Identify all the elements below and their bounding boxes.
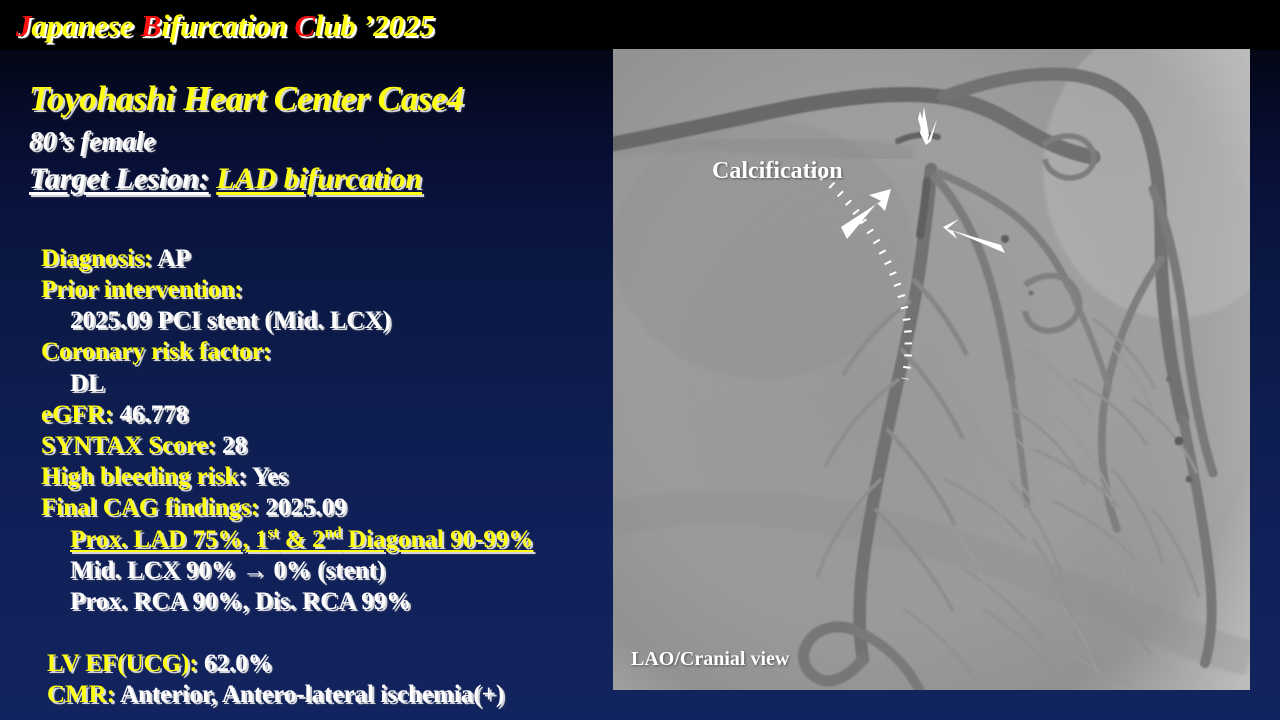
target-lesion-label: Target Lesion: (29, 162, 209, 195)
target-lesion-line: Target Lesion: LAD bifurcation (29, 162, 422, 196)
detail-label: Diagnosis: (41, 245, 152, 272)
detail-label: Final CAG findings: (41, 494, 259, 521)
cag-finding-lcx: Mid. LCX 90% → 0% (stent) (70, 557, 385, 585)
club-title-part-3: ifurcation (161, 8, 294, 43)
slide-canvas: Japanese Bifurcation Club ’2025 Toyohash… (0, 0, 1280, 720)
detail-row: High bleeding risk: Yes (41, 463, 288, 491)
club-title-part-0: J (16, 8, 31, 43)
detail-row: 2025.09 PCI stent (Mid. LCX) (70, 307, 391, 335)
detail-row: DL (70, 370, 105, 398)
club-title-part-2: B (141, 8, 161, 43)
summary-row: LV EF(UCG): 62.0% (47, 650, 273, 678)
cag-finding-rca: Prox. RCA 90%, Dis. RCA 99% (70, 588, 411, 616)
detail-value: 2025.09 PCI stent (Mid. LCX) (70, 307, 391, 334)
club-title-part-5: lub (315, 8, 356, 43)
summary-value: 62.0% (198, 650, 273, 677)
summary-label: LV EF(UCG): (47, 650, 198, 677)
ordinal-suffix-nd: nd (324, 525, 341, 542)
angiogram-svg (613, 49, 1250, 690)
target-lesion-value: LAD bifurcation (216, 162, 422, 195)
ordinal-suffix-st: st (267, 525, 278, 542)
detail-label: High bleeding risk (41, 463, 238, 490)
summary-value: Anterior, Antero-lateral ischemia(+) (115, 681, 504, 708)
summary-row: CMR: Anterior, Antero-lateral ischemia(+… (47, 681, 504, 709)
left-content-column: Toyohashi Heart Center Case4 80’s female… (0, 50, 610, 720)
detail-label: Coronary risk factor: (41, 338, 271, 365)
detail-label: SYNTAX Score: (41, 432, 216, 459)
detail-label: Prior intervention: (41, 276, 243, 303)
cag-finding-lad: Prox. LAD 75%, 1st & 2nd Diagonal 90-99% (70, 526, 533, 554)
detail-value: : Yes (238, 463, 288, 490)
club-title: Japanese Bifurcation Club ’2025 (16, 8, 434, 44)
club-title-part-4: C (294, 8, 314, 43)
detail-row: eGFR: 46.778 (41, 401, 188, 429)
detail-row: SYNTAX Score: 28 (41, 432, 247, 460)
club-title-part-6: ’2025 (356, 8, 435, 43)
detail-label: eGFR: (41, 401, 113, 428)
detail-value: 46.778 (113, 401, 188, 428)
summary-label: CMR: (47, 681, 115, 708)
detail-row: Final CAG findings: 2025.09 (41, 494, 347, 522)
detail-value: 28 (216, 432, 247, 459)
club-title-part-1: apanese (31, 8, 140, 43)
detail-value: 2025.09 (259, 494, 347, 521)
detail-row: Coronary risk factor: (41, 338, 271, 366)
detail-row: Diagnosis: AP (41, 245, 190, 273)
patient-demographics: 80’s female (29, 126, 155, 157)
case-title: Toyohashi Heart Center Case4 (29, 79, 464, 119)
detail-value: AP (152, 245, 190, 272)
detail-value: DL (70, 370, 105, 397)
angiogram-image (613, 49, 1250, 690)
detail-row: Prior intervention: (41, 276, 243, 304)
